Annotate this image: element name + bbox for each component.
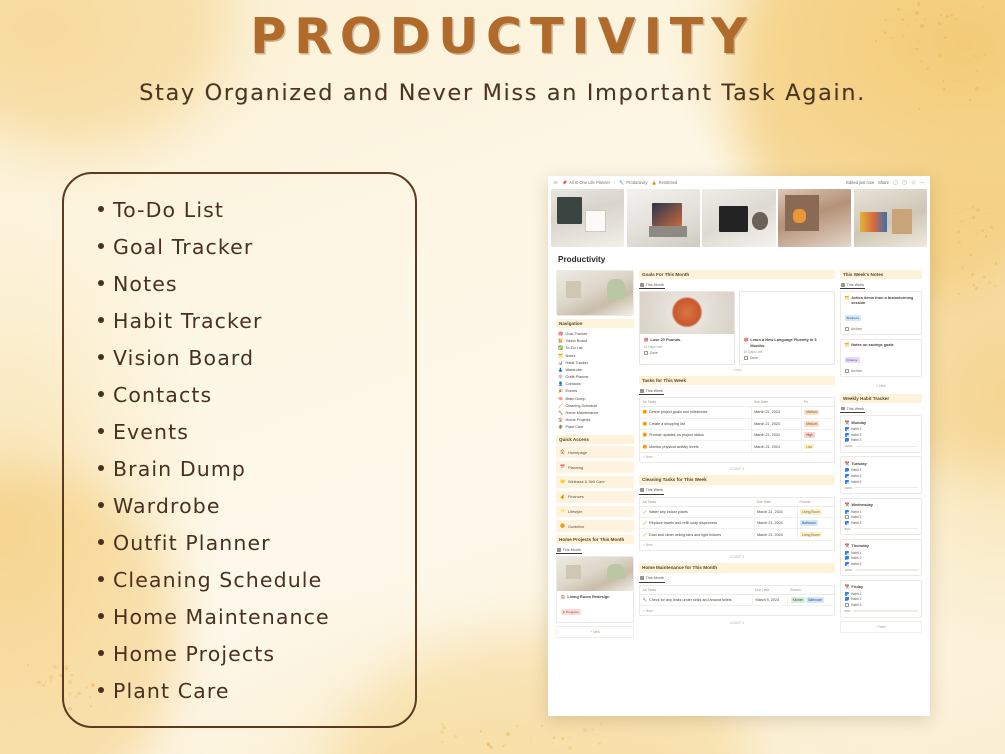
feature-item: Goal Tracker xyxy=(98,235,415,272)
checkbox-icon[interactable] xyxy=(845,556,849,560)
feature-item: Notes xyxy=(98,272,415,309)
feature-label: Wardrobe xyxy=(113,494,221,518)
room-badge: Bathroom xyxy=(800,520,818,526)
archive-label: Archive xyxy=(851,327,862,331)
checkbox-icon[interactable] xyxy=(845,433,849,437)
checkbox-icon[interactable] xyxy=(845,592,849,596)
nav-label: Habit Tracker xyxy=(565,361,588,365)
quick-access-item-wellness-self-care[interactable]: 💛Wellness & Self Care xyxy=(556,476,634,488)
nav-emoji-icon: 👤 xyxy=(558,382,563,386)
share-button[interactable]: Share xyxy=(878,180,889,185)
checkbox-icon[interactable] xyxy=(845,597,849,601)
checkbox-icon[interactable] xyxy=(845,327,849,331)
habit-row[interactable]: Habit 1 xyxy=(845,551,918,555)
goals-heading: Goals For This Month xyxy=(639,270,835,279)
progress-percent: 100% xyxy=(845,486,853,490)
breadcrumb-item-0[interactable]: 📌 All In One Life Planner xyxy=(562,180,610,186)
cell-task[interactable]: 🧹Dust and clean ceiling fans and light f… xyxy=(640,529,754,540)
checkbox-icon[interactable] xyxy=(845,515,849,519)
note-title-row: 🗂️Action items from a brainstorming sess… xyxy=(845,296,918,306)
checkbox-icon[interactable] xyxy=(644,351,648,355)
clock-icon[interactable] xyxy=(902,180,907,185)
nav-label: Brain Dump xyxy=(565,397,585,401)
gallery-image-0 xyxy=(551,189,624,247)
habit-day-card[interactable]: 📆WednesdayHabit 1Habit 2Habit 366% xyxy=(840,498,922,536)
project-title-row: 🏠Living Room Redesign xyxy=(561,594,630,599)
priority-badge: Low xyxy=(804,444,814,450)
sidebar-item-vision-board[interactable]: 📔Vision Board xyxy=(556,338,634,345)
table-row[interactable]: 🟠Provide updates on project statusMarch … xyxy=(640,430,834,441)
sidebar-cover-image xyxy=(556,270,634,316)
notes-list: 🗂️Action items from a brainstorming sess… xyxy=(840,291,922,377)
cell-task[interactable]: 🟠Provide updates on project status xyxy=(640,430,751,441)
archive-label: Archive xyxy=(851,369,862,373)
table-row[interactable]: 🟠Define project goals and milestonesMarc… xyxy=(640,407,834,418)
quick-access-item-guideline[interactable]: 🟠Guideline xyxy=(556,520,634,532)
row-emoji-icon: 🔧 xyxy=(643,598,648,602)
habit-row[interactable]: Habit 1 xyxy=(845,592,918,596)
calendar-icon: 📆 xyxy=(845,420,850,425)
quick-label: Lifestyle xyxy=(568,509,582,514)
tasks-count: COUNT 4 xyxy=(639,465,835,476)
feature-item: Home Projects xyxy=(98,642,415,679)
feature-item: Vision Board xyxy=(98,346,415,383)
feature-item: Cleaning Schedule xyxy=(98,568,415,605)
bullet-icon xyxy=(98,576,104,582)
breadcrumb-emoji: 🔧 xyxy=(619,180,624,186)
calendar-icon: 📆 xyxy=(845,543,850,548)
project-image xyxy=(557,557,633,591)
breadcrumb-separator: / xyxy=(614,180,615,185)
calendar-icon: 📆 xyxy=(845,502,850,507)
cell-due-date[interactable]: March 21, 2024 xyxy=(754,506,797,517)
habit-day-card[interactable]: 📆ThursdayHabit 1Habit 2Habit 3100% xyxy=(840,539,922,577)
note-emoji-icon: 🗂️ xyxy=(845,296,850,306)
view-label: This Month xyxy=(646,283,664,287)
table-row[interactable]: 🟠Monitor physical activity levelsMarch 2… xyxy=(640,441,834,452)
quick-label: Planning xyxy=(568,465,583,470)
feature-item: Wardrobe xyxy=(98,494,415,531)
feature-item: Home Maintenance xyxy=(98,605,415,642)
habit-day-card[interactable]: 📆FridayHabit 1Habit 2Habit 366% xyxy=(840,580,922,618)
habit-progress: 66% xyxy=(845,527,918,531)
goal-card[interactable]: 🎯Learn a New Language Fluently in 9 Mont… xyxy=(739,291,835,365)
goal-card[interactable]: 🎯Lose 20 Pounds.10 Days LeftDone xyxy=(639,291,735,365)
column-header[interactable]: Aa Tasks xyxy=(640,586,753,595)
goal-card-title-row: 🎯Lose 20 Pounds. xyxy=(644,337,731,342)
column-header[interactable]: Aa Tasks xyxy=(640,398,751,407)
tasks-table-block: Aa TasksDue DatePri🟠Define project goals… xyxy=(639,397,835,463)
quick-emoji-icon: 🏠 xyxy=(560,450,565,454)
breadcrumb-label: Productivity xyxy=(626,180,647,185)
goal-done-label: Done xyxy=(650,351,658,355)
checkbox-icon[interactable] xyxy=(744,356,748,360)
restricted-label: Restricted xyxy=(659,180,677,185)
restricted-badge: 🔒 Restricted xyxy=(652,180,678,186)
navigation-heading: Navigation xyxy=(556,319,634,328)
habit-row[interactable]: Habit 2 xyxy=(845,515,918,519)
star-icon[interactable] xyxy=(911,180,916,185)
feature-label: Plant Care xyxy=(113,679,230,703)
grid-icon xyxy=(841,407,845,411)
nav-emoji-icon: 🎉 xyxy=(558,389,563,393)
task-label: Replace towels and refill soap dispenser… xyxy=(649,521,717,525)
progress-bar xyxy=(855,487,918,489)
nav-emoji-icon: 🔨 xyxy=(558,411,563,415)
habits-new-button[interactable]: + New xyxy=(840,621,922,633)
cell-tag[interactable]: Living Room xyxy=(797,529,834,540)
quick-access-item-lifestyle[interactable]: ✨Lifestyle xyxy=(556,506,634,518)
quick-access-item-planning[interactable]: 📅Planning xyxy=(556,461,634,473)
tasks-new-button[interactable]: + New xyxy=(640,453,834,462)
checkbox-icon[interactable] xyxy=(845,427,849,431)
note-card[interactable]: 🗂️Action items from a brainstorming sess… xyxy=(840,291,922,335)
habit-label: Habit 3 xyxy=(851,480,861,484)
feature-item: Brain Dump xyxy=(98,457,415,494)
notion-topbar: 📌 All In One Life Planner / 🔧 Productivi… xyxy=(548,176,930,189)
maintenance-view-tab[interactable]: This Month xyxy=(639,575,665,583)
progress-bar xyxy=(855,569,918,571)
nav-emoji-icon: 👚 xyxy=(558,375,563,379)
nav-emoji-icon: 👗 xyxy=(558,368,563,372)
task-label: Monitor physical activity levels xyxy=(649,445,698,449)
progress-bar xyxy=(853,610,917,612)
quick-emoji-icon: ✨ xyxy=(560,509,565,513)
navigation-list: 🎯Goal Tracker📔Vision Board✅To-Do List🗂️N… xyxy=(556,330,634,431)
goal-card-image xyxy=(740,292,834,334)
cell-task[interactable]: 🧹Replace towels and refill soap dispense… xyxy=(640,518,754,529)
cell-due-date[interactable]: March 21, 2024 xyxy=(751,407,801,418)
cleaning-new-button[interactable]: + New xyxy=(640,541,834,550)
bullet-icon xyxy=(98,687,104,693)
sidebar-item-habit-tracker[interactable]: 📊Habit Tracker xyxy=(556,359,634,366)
column-header[interactable]: Rooms xyxy=(797,498,834,507)
quick-emoji-icon: 💰 xyxy=(560,495,565,499)
cell-tag[interactable]: Low xyxy=(801,441,834,452)
habit-row[interactable]: Habit 2 xyxy=(845,433,918,437)
feature-item: Habit Tracker xyxy=(98,309,415,346)
cell-due-date[interactable]: March 9, 2024 xyxy=(753,594,788,605)
status-badge: In Progress xyxy=(561,609,581,615)
habits-list: 📆MondayHabit 1Habit 2Habit 3100%📆Tuesday… xyxy=(840,415,922,617)
cell-tag[interactable]: High xyxy=(801,430,834,441)
habit-label: Habit 3 xyxy=(851,438,861,442)
habit-row[interactable]: Habit 2 xyxy=(845,556,918,560)
nav-emoji-icon: 🪴 xyxy=(558,425,563,429)
day-label: Monday xyxy=(851,420,866,425)
column-header[interactable]: Aa Tasks xyxy=(640,498,754,507)
breadcrumb-item-1[interactable]: 🔧 Productivity xyxy=(619,180,647,186)
bullet-icon xyxy=(98,206,104,212)
habit-row[interactable]: Habit 1 xyxy=(845,468,918,472)
habit-day-card[interactable]: 📆TuesdayHabit 1Habit 2Habit 3100% xyxy=(840,456,922,494)
cell-due-date[interactable]: March 21, 2024 xyxy=(751,418,801,429)
habit-day-card[interactable]: 📆MondayHabit 1Habit 2Habit 3100% xyxy=(840,415,922,453)
topbar-actions: Edited just now Share xyxy=(846,180,925,185)
habits-heading: Weekly Habit Tracker xyxy=(840,394,922,403)
habit-label: Habit 2 xyxy=(851,474,861,478)
sidebar-item-goal-tracker[interactable]: 🎯Goal Tracker xyxy=(556,330,634,337)
sidebar-item-wardrobe[interactable]: 👗Wardrobe xyxy=(556,366,634,373)
quick-access-item-homepage[interactable]: 🏠Homepage xyxy=(556,446,634,458)
cell-due-date[interactable]: March 21, 2024 xyxy=(754,518,797,529)
nav-emoji-icon: 📔 xyxy=(558,339,563,343)
habit-progress: 66% xyxy=(845,609,918,613)
cell-tag[interactable]: Bathroom xyxy=(797,518,834,529)
feature-label: Cleaning Schedule xyxy=(113,568,322,592)
grid-icon xyxy=(841,283,845,287)
checkbox-icon[interactable] xyxy=(845,521,849,525)
home-projects-heading: Home Projects for This Month xyxy=(556,535,634,544)
bullet-icon xyxy=(98,650,104,656)
cell-task[interactable]: 🟠Define project goals and milestones xyxy=(640,407,751,418)
maintenance-count: COUNT 1 xyxy=(639,618,835,629)
home-projects-new-button[interactable]: + New xyxy=(556,626,634,638)
grid-icon xyxy=(640,283,644,287)
sidebar-item-events[interactable]: 🎉Events xyxy=(556,388,634,395)
gallery-image-4 xyxy=(854,189,927,247)
bullet-icon xyxy=(98,613,104,619)
feature-item: Outfit Planner xyxy=(98,531,415,568)
feature-item: To-Do List xyxy=(98,198,415,235)
note-archive-checkbox[interactable]: Archive xyxy=(845,327,918,331)
cell-tag[interactable]: Living Room xyxy=(797,506,834,517)
feature-list-card: To-Do ListGoal TrackerNotesHabit Tracker… xyxy=(62,172,417,728)
column-header[interactable]: Pri xyxy=(801,398,834,407)
tasks-table: Aa TasksDue DatePri🟠Define project goals… xyxy=(640,398,834,453)
note-tag: Business xyxy=(845,315,862,321)
bullet-icon xyxy=(98,539,104,545)
cell-tag[interactable]: Kitchen Bathroom xyxy=(788,594,834,605)
home-projects-view-tab[interactable]: This Month xyxy=(556,546,582,554)
day-label: Wednesday xyxy=(851,502,873,507)
task-label: Create a shopping list xyxy=(649,422,685,426)
more-icon[interactable] xyxy=(920,180,925,185)
checkbox-icon[interactable] xyxy=(845,438,849,442)
checkbox-icon[interactable] xyxy=(845,510,849,514)
goal-done-checkbox[interactable]: Done xyxy=(744,356,831,360)
sidebar-item-home-maintenance[interactable]: 🔨Home Maintenance xyxy=(556,409,634,416)
checkbox-icon[interactable] xyxy=(845,480,849,484)
checkbox-icon[interactable] xyxy=(845,468,849,472)
bullet-icon xyxy=(98,391,104,397)
task-label: Dust and clean ceiling fans and light fi… xyxy=(649,533,721,537)
checkbox-icon[interactable] xyxy=(845,603,849,607)
table-row[interactable]: 🧹Dust and clean ceiling fans and light f… xyxy=(640,529,834,540)
feature-label: Vision Board xyxy=(113,346,254,370)
feature-label: Contacts xyxy=(113,383,212,407)
goal-done-checkbox[interactable]: Done xyxy=(644,351,731,355)
habit-row[interactable]: Habit 3 xyxy=(845,603,918,607)
goals-new-button[interactable]: + New xyxy=(639,365,835,376)
feature-label: Outfit Planner xyxy=(113,531,271,555)
checkbox-icon[interactable] xyxy=(845,551,849,555)
column-header[interactable]: Rooms xyxy=(788,586,834,595)
nav-label: Cleaning Schedule xyxy=(565,404,597,408)
sidebar-item-brain-dump[interactable]: 🧠Brain Dump xyxy=(556,395,634,402)
habit-row[interactable]: Habit 2 xyxy=(845,474,918,478)
task-label: Define project goals and milestones xyxy=(649,410,707,414)
habits-view-tab[interactable]: This Week xyxy=(840,405,865,413)
feature-list: To-Do ListGoal TrackerNotesHabit Tracker… xyxy=(98,198,415,716)
nav-emoji-icon: 🏠 xyxy=(558,418,563,422)
notes-new-button[interactable]: + New xyxy=(840,381,922,391)
note-archive-checkbox[interactable]: Archive xyxy=(845,369,918,373)
gallery-image-3 xyxy=(778,189,851,247)
note-title: Action items from a brainstorming sessio… xyxy=(851,296,917,306)
table-row[interactable]: 🟠Create a shopping listMarch 21, 2024Med… xyxy=(640,418,834,429)
view-label: This Week xyxy=(646,488,663,492)
sidebar-item-plant-care[interactable]: 🪴Plant Care xyxy=(556,424,634,431)
habit-progress: 100% xyxy=(845,568,918,572)
cleaning-table-block: Aa TasksDue DateRooms🧹Water any indoor p… xyxy=(639,497,835,551)
maintenance-new-button[interactable]: + New xyxy=(640,606,834,615)
maintenance-table-block: Aa TasksDue DateRooms🔧Check for any leak… xyxy=(639,585,835,616)
sidebar-item-contacts[interactable]: 👤Contacts xyxy=(556,381,634,388)
maintenance-heading: Home Maintenance for This Month xyxy=(639,563,835,572)
habit-row[interactable]: Habit 3 xyxy=(845,521,918,525)
nav-emoji-icon: 📊 xyxy=(558,361,563,365)
cell-due-date[interactable]: March 21, 2024 xyxy=(751,441,801,452)
sidebar-item-home-projects[interactable]: 🏠Home Projects xyxy=(556,417,634,424)
cleaning-table: Aa TasksDue DateRooms🧹Water any indoor p… xyxy=(640,498,834,541)
hamburger-icon[interactable] xyxy=(553,180,558,185)
quick-access-list: 🏠Homepage📅Planning💛Wellness & Self Care💰… xyxy=(556,446,634,532)
cell-tag[interactable]: Medium xyxy=(801,418,834,429)
breadcrumb-emoji: 📌 xyxy=(562,180,567,186)
checkbox-icon[interactable] xyxy=(845,369,849,373)
task-label: Check for any leaks under sinks and arou… xyxy=(649,598,732,602)
sidebar-item-notes[interactable]: 🗂️Notes xyxy=(556,352,634,359)
feature-item: Plant Care xyxy=(98,679,415,716)
nav-label: Goal Tracker xyxy=(565,332,587,336)
habit-row[interactable]: Habit 1 xyxy=(845,427,918,431)
habit-day-title: 📆Wednesday xyxy=(845,502,918,507)
table-row[interactable]: 🧹Replace towels and refill soap dispense… xyxy=(640,518,834,529)
bullet-icon xyxy=(98,280,104,286)
quick-emoji-icon: 💛 xyxy=(560,480,565,484)
quick-emoji-icon: 🟠 xyxy=(560,524,565,528)
row-emoji-icon: 🧹 xyxy=(643,521,648,525)
nav-label: Home Maintenance xyxy=(565,411,598,415)
view-label: This Month xyxy=(563,548,581,552)
tasks-heading: Tasks for This Week xyxy=(639,376,835,385)
quick-label: Finances xyxy=(568,494,584,499)
quick-access-heading: Quick Access xyxy=(556,435,634,444)
gallery-image-2 xyxy=(702,189,775,247)
notion-app-screenshot[interactable]: 📌 All In One Life Planner / 🔧 Productivi… xyxy=(548,176,930,716)
habit-row[interactable]: Habit 3 xyxy=(845,562,918,566)
maintenance-table: Aa TasksDue DateRooms🔧Check for any leak… xyxy=(640,586,834,606)
cell-task[interactable]: 🔧Check for any leaks under sinks and aro… xyxy=(640,594,753,605)
nav-label: Notes xyxy=(565,354,575,358)
column-header[interactable]: Due Date xyxy=(753,586,788,595)
progress-percent: 66% xyxy=(845,609,851,613)
priority-badge: High xyxy=(804,432,815,438)
cell-task[interactable]: 🟠Monitor physical activity levels xyxy=(640,441,751,452)
notion-left-column: Navigation 🎯Goal Tracker📔Vision Board✅To… xyxy=(556,270,634,638)
nav-label: Outfit Planner xyxy=(565,375,588,379)
row-emoji-icon: 🟠 xyxy=(643,445,648,449)
checkbox-icon[interactable] xyxy=(845,562,849,566)
view-label: This Week xyxy=(847,283,864,287)
sidebar-item-outfit-planner[interactable]: 👚Outfit Planner xyxy=(556,374,634,381)
habit-progress: 100% xyxy=(845,444,918,448)
row-emoji-icon: 🧹 xyxy=(643,510,648,514)
sidebar-item-to-do-list[interactable]: ✅To-Do List xyxy=(556,345,634,352)
cleaning-heading: Cleaning Tasks for This Week xyxy=(639,475,835,484)
notes-view-tab[interactable]: This Week xyxy=(840,281,865,289)
grid-icon xyxy=(640,576,644,580)
column-header[interactable]: Due Date xyxy=(754,498,797,507)
cell-task[interactable]: 🧹Water any indoor plants xyxy=(640,506,754,517)
feature-item: Events xyxy=(98,420,415,457)
nav-label: Events xyxy=(565,389,577,393)
cleaning-view-tab[interactable]: This Week xyxy=(639,487,664,495)
tasks-view-tab[interactable]: This Week xyxy=(639,387,664,395)
nav-label: Vision Board xyxy=(565,339,586,343)
quick-access-item-finances[interactable]: 💰Finances xyxy=(556,491,634,503)
notion-middle-column: Goals For This Month This Month 🎯Lose 20… xyxy=(639,270,835,629)
cover-image-gallery xyxy=(548,189,930,247)
project-card[interactable]: 🏠Living Room RedesignIn Progress xyxy=(556,556,634,622)
habit-row[interactable]: Habit 3 xyxy=(845,438,918,442)
progress-percent: 100% xyxy=(845,444,853,448)
bullet-icon xyxy=(98,243,104,249)
habit-progress: 100% xyxy=(845,486,918,490)
checkbox-icon[interactable] xyxy=(845,474,849,478)
goals-view-tab[interactable]: This Month xyxy=(639,281,665,289)
feature-label: Events xyxy=(113,420,189,444)
habit-label: Habit 2 xyxy=(851,556,861,560)
habit-label: Habit 2 xyxy=(851,515,861,519)
table-row[interactable]: 🔧Check for any leaks under sinks and aro… xyxy=(640,594,834,605)
notion-page-title: Productivity xyxy=(558,255,922,264)
bullet-icon xyxy=(98,317,104,323)
cleaning-count: COUNT 3 xyxy=(639,553,835,564)
bullet-icon xyxy=(98,354,104,360)
column-header[interactable]: Due Date xyxy=(751,398,801,407)
nav-label: Home Projects xyxy=(565,418,590,422)
habit-row[interactable]: Habit 1 xyxy=(845,510,918,514)
priority-badge: Medium xyxy=(804,421,819,427)
goal-days-left: 10 Days Left xyxy=(644,345,731,349)
note-card[interactable]: 🗂️Notes on savings goalsFinanceArchive xyxy=(840,339,922,378)
habit-row[interactable]: Habit 2 xyxy=(845,597,918,601)
cell-due-date[interactable]: March 21, 2024 xyxy=(754,529,797,540)
calendar-icon: 📆 xyxy=(845,461,850,466)
feature-label: Habit Tracker xyxy=(113,309,263,333)
grid-icon xyxy=(640,389,644,393)
feature-label: To-Do List xyxy=(113,198,224,222)
habit-label: Habit 3 xyxy=(851,603,861,607)
cell-tag[interactable]: Medium xyxy=(801,407,834,418)
goal-emoji-icon: 🎯 xyxy=(744,337,749,348)
view-label: This Week xyxy=(646,389,663,393)
cell-task[interactable]: 🟠Create a shopping list xyxy=(640,418,751,429)
table-row[interactable]: 🧹Water any indoor plantsMarch 21, 2024Li… xyxy=(640,506,834,517)
quick-label: Homepage xyxy=(568,450,587,455)
sidebar-item-cleaning-schedule[interactable]: 🧹Cleaning Schedule xyxy=(556,402,634,409)
day-label: Tuesday xyxy=(851,461,867,466)
goal-title: Lose 20 Pounds. xyxy=(650,337,681,342)
goal-cards: 🎯Lose 20 Pounds.10 Days LeftDone🎯Learn a… xyxy=(639,291,835,365)
task-label: Provide updates on project status xyxy=(649,433,704,437)
habit-row[interactable]: Habit 3 xyxy=(845,480,918,484)
cell-due-date[interactable]: March 21, 2024 xyxy=(751,430,801,441)
comment-icon[interactable] xyxy=(893,180,898,185)
habit-label: Habit 1 xyxy=(851,592,861,596)
